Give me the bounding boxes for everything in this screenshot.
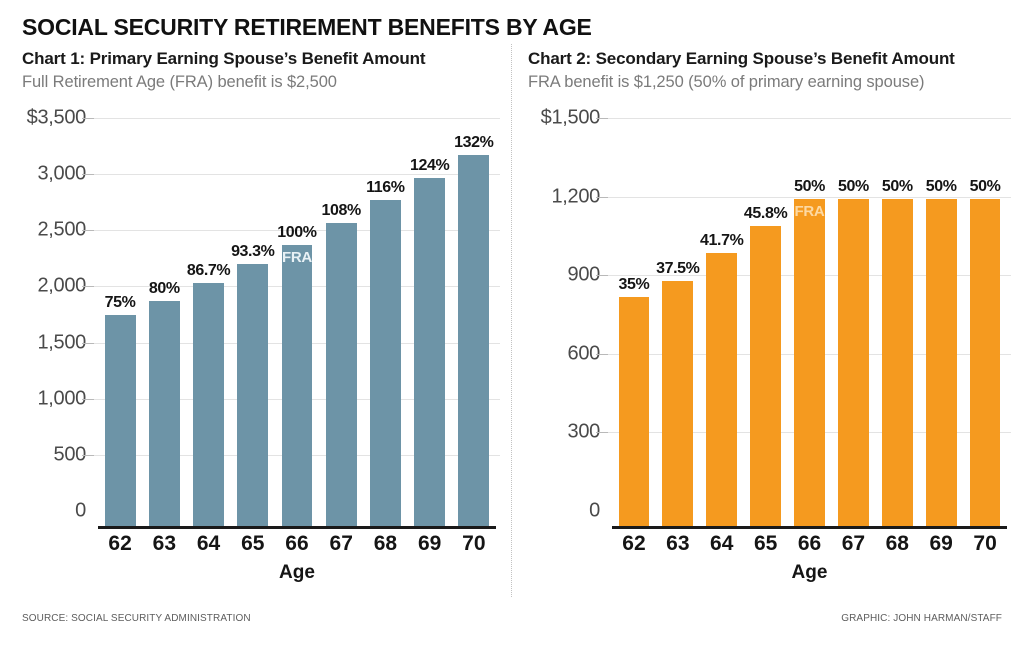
bar-value-label: 50% — [794, 178, 825, 196]
bar-column[interactable]: 124% — [408, 133, 452, 526]
bar[interactable]: 116% — [370, 200, 401, 526]
x-axis-tick-label: 70 — [963, 532, 1007, 556]
chart-1-subtitle: Full Retirement Age (FRA) benefit is $2,… — [22, 70, 492, 94]
chart-2-plot-area: 35%37.5%41.7%45.8%50%FRA50%50%50%50% — [612, 133, 1007, 526]
bar-column[interactable]: 50% — [919, 133, 963, 526]
x-axis-tick-label: 62 — [98, 532, 142, 556]
bar[interactable]: 50% — [970, 199, 1001, 527]
bar-value-label: 124% — [410, 157, 449, 175]
chart-2-x-axis-title: Age — [612, 562, 1007, 584]
gridline-stub — [82, 230, 94, 231]
bar-column[interactable]: 50%FRA — [788, 133, 832, 526]
bar-column[interactable]: 50% — [831, 133, 875, 526]
x-axis-tick-label: 63 — [656, 532, 700, 556]
gridline-stub — [82, 174, 94, 175]
bar[interactable]: 41.7% — [706, 253, 737, 526]
chart-1-panel: 05001,0001,5002,0002,5003,000$3,500 75%8… — [14, 118, 504, 548]
x-axis-tick-label: 64 — [700, 532, 744, 556]
chart-2-title: Chart 2: Secondary Earning Spouse’s Bene… — [528, 48, 1008, 70]
y-axis-tick-label: $1,500 — [541, 107, 600, 130]
bar-value-label: 100% — [277, 224, 316, 242]
bar[interactable]: 93.3% — [237, 264, 268, 526]
gridline-stub — [596, 197, 608, 198]
bar-column[interactable]: 75% — [98, 133, 142, 526]
chart-2-panel: 03006009001,200$1,500 35%37.5%41.7%45.8%… — [520, 118, 1015, 548]
page-title: SOCIAL SECURITY RETIREMENT BENEFITS BY A… — [22, 14, 592, 41]
y-axis-tick-label: $3,500 — [27, 107, 86, 130]
gridline-stub — [82, 286, 94, 287]
bar[interactable]: 132% — [458, 155, 489, 526]
chart-1-x-axis: 626364656667686970 — [98, 532, 496, 556]
bar-value-label: 132% — [454, 134, 493, 152]
gridline-stub — [82, 118, 94, 119]
x-axis-tick-label: 65 — [744, 532, 788, 556]
y-axis-tick-label: 2,000 — [37, 275, 86, 298]
gridline — [604, 118, 1011, 119]
panel-divider — [511, 44, 512, 597]
bar[interactable]: 50% — [926, 199, 957, 527]
chart-1-baseline — [98, 526, 496, 529]
x-axis-tick-label: 68 — [363, 532, 407, 556]
bar-value-label: 45.8% — [744, 205, 787, 223]
bar[interactable]: 50% — [838, 199, 869, 527]
gridline-stub — [82, 343, 94, 344]
x-axis-tick-label: 62 — [612, 532, 656, 556]
y-axis-tick-label: 3,000 — [37, 163, 86, 186]
gridline-stub — [82, 399, 94, 400]
chart-2-baseline — [612, 526, 1007, 529]
x-axis-tick-label: 68 — [875, 532, 919, 556]
bar-column[interactable]: 50% — [875, 133, 919, 526]
x-axis-tick-label: 69 — [408, 532, 452, 556]
chart-1-plot-area: 75%80%86.7%93.3%100%FRA108%116%124%132% — [98, 133, 496, 526]
bar-value-label: 50% — [926, 178, 957, 196]
bar-value-label: 108% — [322, 202, 361, 220]
infographic-root: SOCIAL SECURITY RETIREMENT BENEFITS BY A… — [0, 0, 1024, 660]
bar[interactable]: 100%FRA — [282, 245, 313, 526]
bar-value-label: 80% — [149, 280, 180, 298]
chart-1-x-axis-title: Age — [98, 562, 496, 584]
x-axis-tick-label: 66 — [275, 532, 319, 556]
bar-column[interactable]: 37.5% — [656, 133, 700, 526]
y-axis-tick-label: 1,500 — [37, 331, 86, 354]
x-axis-tick-label: 65 — [231, 532, 275, 556]
chart-2-subtitle: FRA benefit is $1,250 (50% of primary ea… — [528, 70, 1008, 94]
bar[interactable]: 108% — [326, 223, 357, 526]
bar[interactable]: 124% — [414, 178, 445, 526]
chart-2-x-axis: 626364656667686970 — [612, 532, 1007, 556]
bar-value-label: 41.7% — [700, 232, 743, 250]
bar-column[interactable]: 108% — [319, 133, 363, 526]
y-axis-tick-label: 1,200 — [551, 185, 600, 208]
bar-value-label: 86.7% — [187, 262, 230, 280]
fra-annotation: FRA — [282, 249, 312, 266]
bar-value-label: 50% — [882, 178, 913, 196]
bar-value-label: 37.5% — [656, 260, 699, 278]
bar-column[interactable]: 93.3% — [231, 133, 275, 526]
bar-column[interactable]: 45.8% — [744, 133, 788, 526]
gridline-stub — [82, 455, 94, 456]
bar[interactable]: 45.8% — [750, 226, 781, 526]
bar-column[interactable]: 100%FRA — [275, 133, 319, 526]
bar-column[interactable]: 80% — [142, 133, 186, 526]
gridline-stub — [596, 432, 608, 433]
bar-value-label: 75% — [105, 294, 136, 312]
fra-annotation: FRA — [795, 203, 825, 220]
chart-1-title: Chart 1: Primary Earning Spouse’s Benefi… — [22, 48, 492, 70]
bar-column[interactable]: 116% — [363, 133, 407, 526]
x-axis-tick-label: 67 — [319, 532, 363, 556]
gridline-stub — [596, 118, 608, 119]
y-axis-tick-label: 0 — [75, 500, 86, 523]
bar-column[interactable]: 132% — [452, 133, 496, 526]
x-axis-tick-label: 66 — [788, 532, 832, 556]
bar-value-label: 50% — [838, 178, 869, 196]
bar[interactable]: 75% — [105, 315, 136, 526]
bar-column[interactable]: 86.7% — [186, 133, 230, 526]
y-axis-tick-label: 1,000 — [37, 387, 86, 410]
x-axis-tick-label: 67 — [831, 532, 875, 556]
x-axis-tick-label: 69 — [919, 532, 963, 556]
gridline-stub — [596, 275, 608, 276]
graphic-credit: GRAPHIC: JOHN HARMAN/STAFF — [841, 613, 1002, 624]
bar[interactable]: 37.5% — [662, 281, 693, 526]
bar-column[interactable]: 35% — [612, 133, 656, 526]
gridline — [90, 118, 500, 119]
bar-column[interactable]: 41.7% — [700, 133, 744, 526]
bar[interactable]: 86.7% — [193, 283, 224, 526]
chart-2-header: Chart 2: Secondary Earning Spouse’s Bene… — [528, 48, 1008, 94]
x-axis-tick-label: 70 — [452, 532, 496, 556]
chart-1-header: Chart 1: Primary Earning Spouse’s Benefi… — [22, 48, 492, 94]
bar[interactable]: 35% — [619, 297, 650, 526]
bar-value-label: 35% — [619, 276, 650, 294]
source-note: SOURCE: SOCIAL SECURITY ADMINISTRATION — [22, 613, 251, 624]
bar-value-label: 116% — [366, 179, 404, 197]
bar[interactable]: 50% — [882, 199, 913, 527]
bar-column[interactable]: 50% — [963, 133, 1007, 526]
gridline-stub — [596, 354, 608, 355]
bar[interactable]: 50%FRA — [794, 199, 825, 527]
bar[interactable]: 80% — [149, 301, 180, 526]
y-axis-tick-label: 0 — [589, 500, 600, 523]
y-axis-tick-label: 2,500 — [37, 219, 86, 242]
bar-value-label: 93.3% — [231, 243, 274, 261]
x-axis-tick-label: 64 — [186, 532, 230, 556]
bar-value-label: 50% — [970, 178, 1001, 196]
x-axis-tick-label: 63 — [142, 532, 186, 556]
